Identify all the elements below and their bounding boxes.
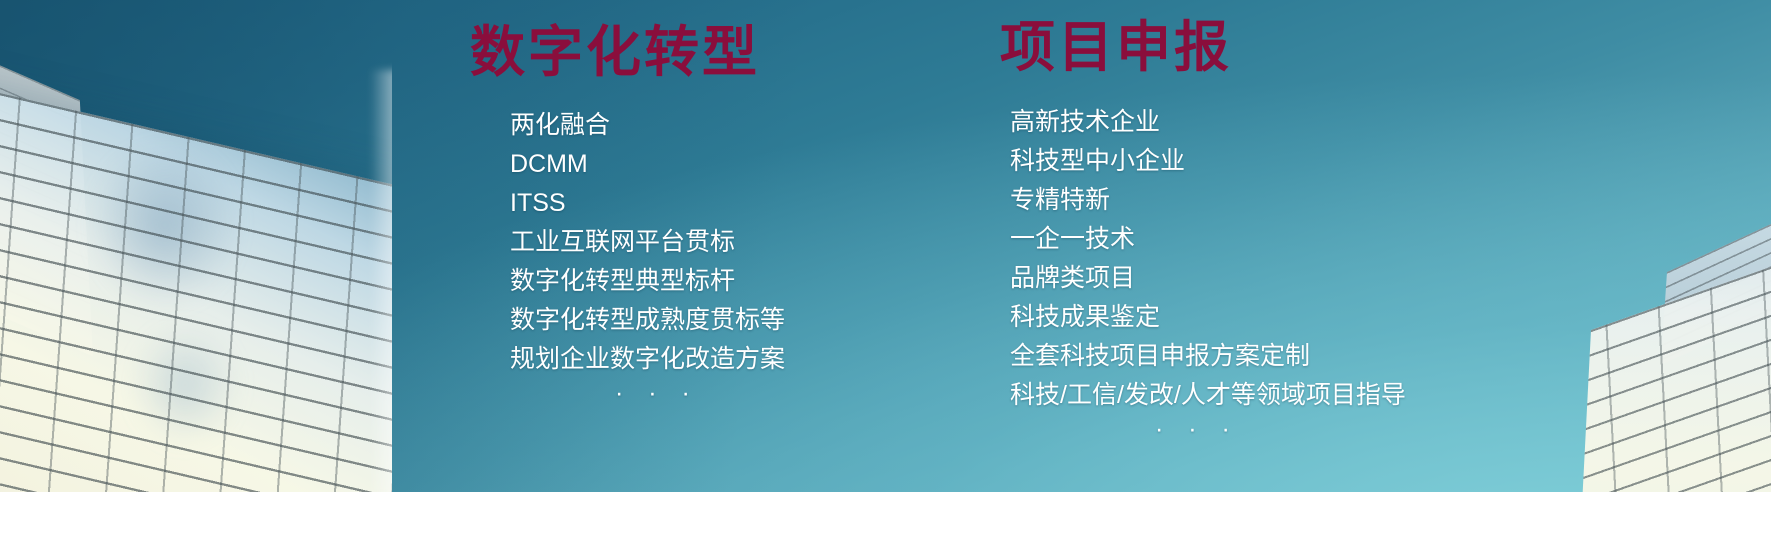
list-item[interactable]: 一企一技术 [1010, 220, 1520, 259]
list-item[interactable]: 全套科技项目申报方案定制 [1010, 337, 1520, 376]
list-item[interactable]: 专精特新 [1010, 181, 1520, 220]
tower-right-vertical-mullions [1572, 183, 1771, 492]
glass-skyscraper-left-image [0, 0, 392, 492]
list-item[interactable]: 科技型中小企业 [1010, 142, 1520, 181]
list-item[interactable]: ITSS [510, 184, 940, 223]
list-item[interactable]: 数字化转型典型标杆 [510, 262, 940, 301]
list-project-application: 高新技术企业 科技型中小企业 专精特新 一企一技术 品牌类项目 科技成果鉴定 全… [1010, 103, 1520, 415]
bottom-white-strip [0, 492, 1771, 560]
column-title-digital-transformation: 数字化转型 [470, 25, 940, 80]
list-item[interactable]: DCMM [510, 145, 940, 184]
more-indicator-digital-transformation: · · · [615, 379, 940, 407]
list-item[interactable]: 科技成果鉴定 [1010, 298, 1520, 337]
list-digital-transformation: 两化融合 DCMM ITSS 工业互联网平台贯标 数字化转型典型标杆 数字化转型… [510, 106, 940, 379]
more-indicator-project-application: · · · [1155, 415, 1520, 443]
list-item[interactable]: 高新技术企业 [1010, 103, 1520, 142]
list-item[interactable]: 科技/工信/发改/人才等领域项目指导 [1010, 376, 1520, 415]
list-item[interactable]: 品牌类项目 [1010, 259, 1520, 298]
list-item[interactable]: 工业互联网平台贯标 [510, 223, 940, 262]
promo-banner: 数字化转型 两化融合 DCMM ITSS 工业互联网平台贯标 数字化转型典型标杆… [0, 0, 1771, 560]
list-item[interactable]: 数字化转型成熟度贯标等 [510, 301, 940, 340]
column-digital-transformation: 数字化转型 两化融合 DCMM ITSS 工业互联网平台贯标 数字化转型典型标杆… [470, 0, 940, 407]
column-title-project-application: 项目申报 [1000, 20, 1520, 75]
list-item[interactable]: 规划企业数字化改造方案 [510, 340, 940, 379]
column-project-application: 项目申报 高新技术企业 科技型中小企业 专精特新 一企一技术 品牌类项目 科技成… [1000, 0, 1520, 443]
list-item[interactable]: 两化融合 [510, 106, 940, 145]
tower-left-edge-highlight [370, 70, 392, 492]
